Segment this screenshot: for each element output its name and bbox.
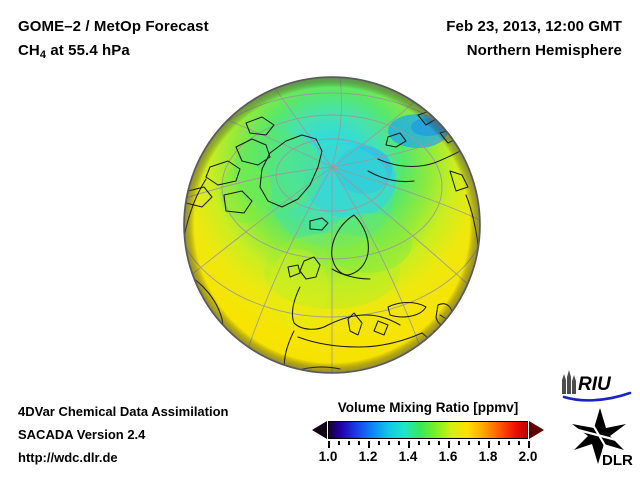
- colorbar-right-arrow-cap: [529, 421, 544, 439]
- colorbar-title: Volume Mixing Ratio [ppmv]: [310, 400, 546, 415]
- colorbar-minor-tick: [478, 441, 480, 445]
- colorbar-tick-label: 1.2: [359, 449, 378, 464]
- instrument-title: GOME–2 / MetOp Forecast: [18, 15, 209, 39]
- colorbar-minor-tick: [348, 441, 350, 445]
- dlr-logo: DLR: [566, 406, 634, 468]
- footer-metadata: 4DVar Chemical Data Assimilation SACADA …: [18, 400, 229, 469]
- url-label[interactable]: http://wdc.dlr.de: [18, 446, 229, 469]
- method-label: 4DVar Chemical Data Assimilation: [18, 400, 229, 423]
- colorbar: Volume Mixing Ratio [ppmv] 1.01.21.41.61…: [310, 400, 546, 466]
- coastline-caribbean: [206, 325, 220, 333]
- colorbar-minor-tick: [438, 441, 440, 445]
- hemisphere-label: Northern Hemisphere: [446, 39, 622, 63]
- colorbar-minor-tick: [418, 441, 420, 445]
- coastline-arabia: [434, 331, 466, 359]
- colorbar-gradient: [328, 421, 528, 439]
- globe-svg: [182, 75, 482, 375]
- version-label: SACADA Version 2.4: [18, 423, 229, 446]
- species-subscript: 4: [40, 49, 46, 61]
- colorbar-minor-tick: [338, 441, 340, 445]
- colorbar-major-tick: [408, 441, 410, 448]
- colorbar-minor-tick: [378, 441, 380, 445]
- level-label: at 55.4 hPa: [46, 42, 130, 59]
- colorbar-ticks: [328, 441, 528, 448]
- colorbar-major-tick: [448, 441, 450, 448]
- colorbar-major-tick: [328, 441, 330, 448]
- globe-limb-shading: [184, 77, 480, 373]
- colorbar-tick-labels: 1.01.21.41.61.82.0: [328, 448, 528, 466]
- colorbar-minor-tick: [428, 441, 430, 445]
- species-label: CH: [18, 42, 40, 59]
- header-right: Feb 23, 2013, 12:00 GMT Northern Hemisph…: [446, 15, 622, 63]
- colorbar-major-tick: [368, 441, 370, 448]
- valid-time-label: Feb 23, 2013, 12:00 GMT: [446, 15, 622, 39]
- species-level-title: CH4 at 55.4 hPa: [18, 39, 209, 64]
- colorbar-minor-tick: [498, 441, 500, 445]
- colorbar-minor-tick: [388, 441, 390, 445]
- colorbar-minor-tick: [508, 441, 510, 445]
- colorbar-row: [310, 421, 546, 441]
- colorbar-minor-tick: [458, 441, 460, 445]
- riu-wordmark: RIU: [578, 374, 612, 395]
- colorbar-minor-tick: [398, 441, 400, 445]
- colorbar-minor-tick: [518, 441, 520, 445]
- riu-logo: RIU: [558, 368, 634, 402]
- colorbar-tick-label: 1.4: [399, 449, 418, 464]
- globe-map: [182, 75, 482, 375]
- colorbar-tick-label: 1.0: [319, 449, 338, 464]
- header-left: GOME–2 / MetOp Forecast CH4 at 55.4 hPa: [18, 15, 209, 64]
- dlr-wordmark: DLR: [602, 452, 633, 468]
- colorbar-tick-label: 1.8: [479, 449, 498, 464]
- colorbar-minor-tick: [468, 441, 470, 445]
- colorbar-tick-label: 1.6: [439, 449, 458, 464]
- colorbar-tick-label: 2.0: [519, 449, 538, 464]
- colorbar-left-arrow-cap: [312, 421, 327, 439]
- colorbar-major-tick: [488, 441, 490, 448]
- colorbar-major-tick: [528, 441, 530, 448]
- colorbar-minor-tick: [358, 441, 360, 445]
- riu-tower-icon: [562, 370, 576, 394]
